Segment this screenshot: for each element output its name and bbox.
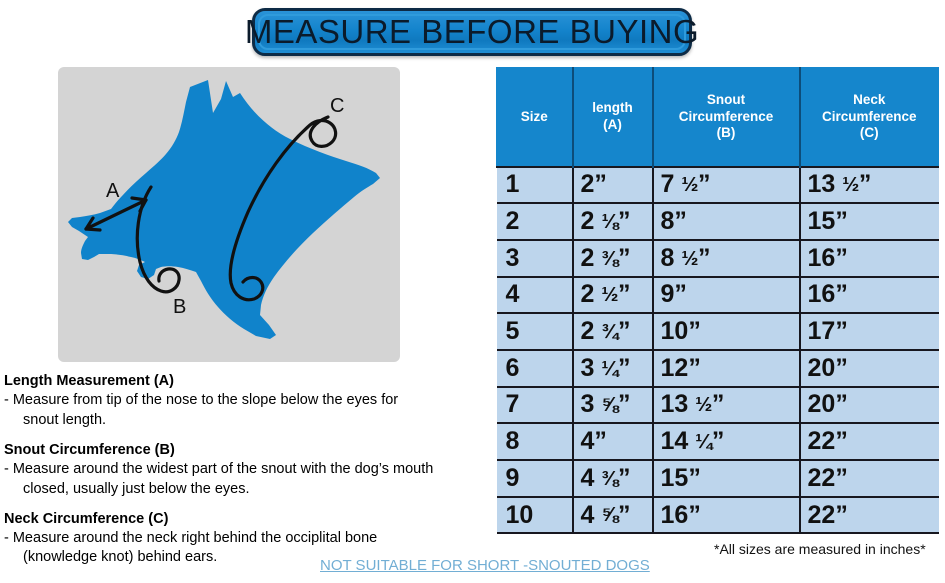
table-row: 84”14 ¼”22” [497,423,939,460]
instruction-body-snout: - Measure around the widest part of the … [4,460,496,499]
dog-illustration-panel: A B C [58,67,400,362]
value-whole: 2 [581,170,595,198]
instruction-line-1: - Measure around the widest part of the … [4,461,433,477]
value-unit: ” [835,354,848,382]
cell-size: 5 [497,313,573,350]
value-whole: 20 [808,390,836,418]
value-unit: ” [698,244,711,272]
value-fraction: ½ [681,175,698,196]
value-whole: 4 [581,464,595,492]
instruction-line-2: snout length. [9,411,496,430]
table-row: 22 ⅛”8”15” [497,203,939,240]
table-row: 63 ¼”12”20” [497,350,939,387]
cell-snout-circumference: 8 ½” [653,240,800,277]
cell-snout-circumference: 7 ½” [653,167,800,204]
table-row: 104 ⅝”16”22” [497,497,939,534]
table-row: 42 ½”9”16” [497,277,939,314]
value-unit: ” [835,464,848,492]
value-whole: 2 [581,244,595,272]
table-row: 12”7 ½”13 ½” [497,167,939,204]
value-unit: ” [859,170,872,198]
cell-length: 3 ¼” [573,350,653,387]
instruction-line-1: - Measure around the neck right behind t… [4,530,377,546]
instruction-line-2: closed, usually just below the eyes. [9,480,496,499]
instruction-heading-neck: Neck Circumference (C) [4,510,496,528]
cell-size: 1 [497,167,573,204]
cell-neck-circumference: 15” [800,203,939,240]
value-unit: ” [674,207,687,235]
cell-size: 9 [497,460,573,497]
cell-length: 2 ⅜” [573,240,653,277]
cell-snout-circumference: 10” [653,313,800,350]
value-unit: ” [712,427,725,455]
cell-neck-circumference: 22” [800,497,939,534]
value-unit: ” [835,427,848,455]
cell-size: 8 [497,423,573,460]
cell-neck-circumference: 22” [800,423,939,460]
value-whole: 22 [808,501,836,529]
instruction-block-snout: Snout Circumference (B) - Measure around… [4,441,496,499]
cell-neck-circumference: 16” [800,277,939,314]
title-banner: MEASURE BEFORE BUYING [252,8,692,56]
value-unit: ” [688,501,701,529]
value-fraction: ⅜ [601,469,618,490]
value-unit: ” [835,244,848,272]
value-whole: 15 [808,207,836,235]
value-fraction: ½ [695,395,712,416]
value-unit: ” [712,390,725,418]
value-unit: ” [688,354,701,382]
sizes-unit-note: *All sizes are measured in inches* [714,541,926,557]
cell-size: 2 [497,203,573,240]
value-unit: ” [594,170,607,198]
measurement-instructions: Length Measurement (A) - Measure from ti… [4,372,496,579]
value-whole: 22 [808,427,836,455]
cell-neck-circumference: 13 ½” [800,167,939,204]
value-whole: 2 [581,280,595,308]
value-whole: 12 [661,354,689,382]
cell-length: 2” [573,167,653,204]
cell-length: 2 ¾” [573,313,653,350]
value-unit: ” [688,317,701,345]
cell-size: 7 [497,387,573,424]
cell-neck-circumference: 20” [800,350,939,387]
label-a: A [106,180,120,202]
cell-snout-circumference: 13 ½” [653,387,800,424]
value-whole: 8 [661,244,675,272]
table-row: 73 ⅝”13 ½”20” [497,387,939,424]
instruction-heading-snout: Snout Circumference (B) [4,441,496,459]
cell-neck-circumference: 20” [800,387,939,424]
value-unit: ” [594,427,607,455]
label-c: C [330,95,344,117]
cell-size: 4 [497,277,573,314]
cell-size: 10 [497,497,573,534]
cell-length: 4” [573,423,653,460]
value-unit: ” [835,390,848,418]
value-whole: 20 [808,354,836,382]
value-whole: 15 [661,464,689,492]
value-fraction: ¼ [601,359,618,380]
instruction-line-1: - Measure from tip of the nose to the sl… [4,392,398,408]
value-whole: 4 [581,501,595,529]
table-row: 32 ⅜”8 ½”16” [497,240,939,277]
cell-length: 2 ½” [573,277,653,314]
table-row: 94 ⅜”15”22” [497,460,939,497]
value-whole: 7 [661,170,675,198]
value-whole: 13 [808,170,836,198]
cell-length: 4 ⅜” [573,460,653,497]
cell-snout-circumference: 16” [653,497,800,534]
column-header-size: Size [497,68,573,167]
value-whole: 16 [808,244,836,272]
value-unit: ” [618,207,631,235]
cell-size: 3 [497,240,573,277]
cell-neck-circumference: 16” [800,240,939,277]
cell-length: 3 ⅝” [573,387,653,424]
value-unit: ” [688,464,701,492]
value-fraction: ¼ [695,432,712,453]
value-unit: ” [618,244,631,272]
value-fraction: ¾ [601,322,618,343]
value-fraction: ½ [681,249,698,270]
instruction-body-length: - Measure from tip of the nose to the sl… [4,391,496,430]
instruction-heading-length: Length Measurement (A) [4,372,496,390]
value-whole: 2 [581,207,595,235]
value-whole: 17 [808,317,836,345]
cell-snout-circumference: 15” [653,460,800,497]
value-unit: ” [618,390,631,418]
value-whole: 9 [661,280,675,308]
cell-neck-circumference: 17” [800,313,939,350]
value-whole: 3 [581,390,595,418]
value-fraction: ⅜ [601,249,618,270]
cell-length: 4 ⅝” [573,497,653,534]
value-unit: ” [835,280,848,308]
value-unit: ” [618,280,631,308]
value-fraction: ⅛ [601,212,618,233]
cell-length: 2 ⅛” [573,203,653,240]
value-unit: ” [674,280,687,308]
value-whole: 3 [581,354,595,382]
table-header-row: Size length (A) Snout Circumference (B) … [497,68,939,167]
cell-snout-circumference: 9” [653,277,800,314]
value-whole: 4 [581,427,595,455]
table-row: 52 ¾”10”17” [497,313,939,350]
value-whole: 14 [661,427,689,455]
value-unit: ” [618,501,631,529]
value-unit: ” [835,207,848,235]
value-fraction: ½ [842,175,859,196]
dog-silhouette-shape [68,80,380,339]
value-whole: 22 [808,464,836,492]
not-suitable-note: NOT SUITABLE FOR SHORT -SNOUTED DOGS [320,557,650,574]
value-fraction: ⅝ [601,505,618,526]
column-header-neck-circumference: Neck Circumference (C) [800,68,939,167]
value-unit: ” [618,317,631,345]
label-b: B [173,296,186,318]
value-fraction: ½ [601,285,618,306]
value-unit: ” [835,501,848,529]
size-chart-table: Size length (A) Snout Circumference (B) … [496,67,939,534]
value-whole: 10 [661,317,689,345]
value-whole: 2 [581,317,595,345]
cell-snout-circumference: 8” [653,203,800,240]
value-fraction: ⅝ [601,395,618,416]
cell-neck-circumference: 22” [800,460,939,497]
value-unit: ” [835,317,848,345]
instruction-block-length: Length Measurement (A) - Measure from ti… [4,372,496,430]
dog-head-diagram: A B C [58,67,400,362]
column-header-length: length (A) [573,68,653,167]
value-unit: ” [618,354,631,382]
table-body: 12”7 ½”13 ½”22 ⅛”8”15”32 ⅜”8 ½”16”42 ½”9… [497,167,939,534]
value-whole: 13 [661,390,689,418]
value-whole: 16 [661,501,689,529]
column-header-snout-circumference: Snout Circumference (B) [653,68,800,167]
value-unit: ” [618,464,631,492]
cell-snout-circumference: 14 ¼” [653,423,800,460]
value-whole: 8 [661,207,675,235]
value-whole: 16 [808,280,836,308]
page-title: MEASURE BEFORE BUYING [245,13,699,51]
cell-snout-circumference: 12” [653,350,800,387]
cell-size: 6 [497,350,573,387]
value-unit: ” [698,170,711,198]
